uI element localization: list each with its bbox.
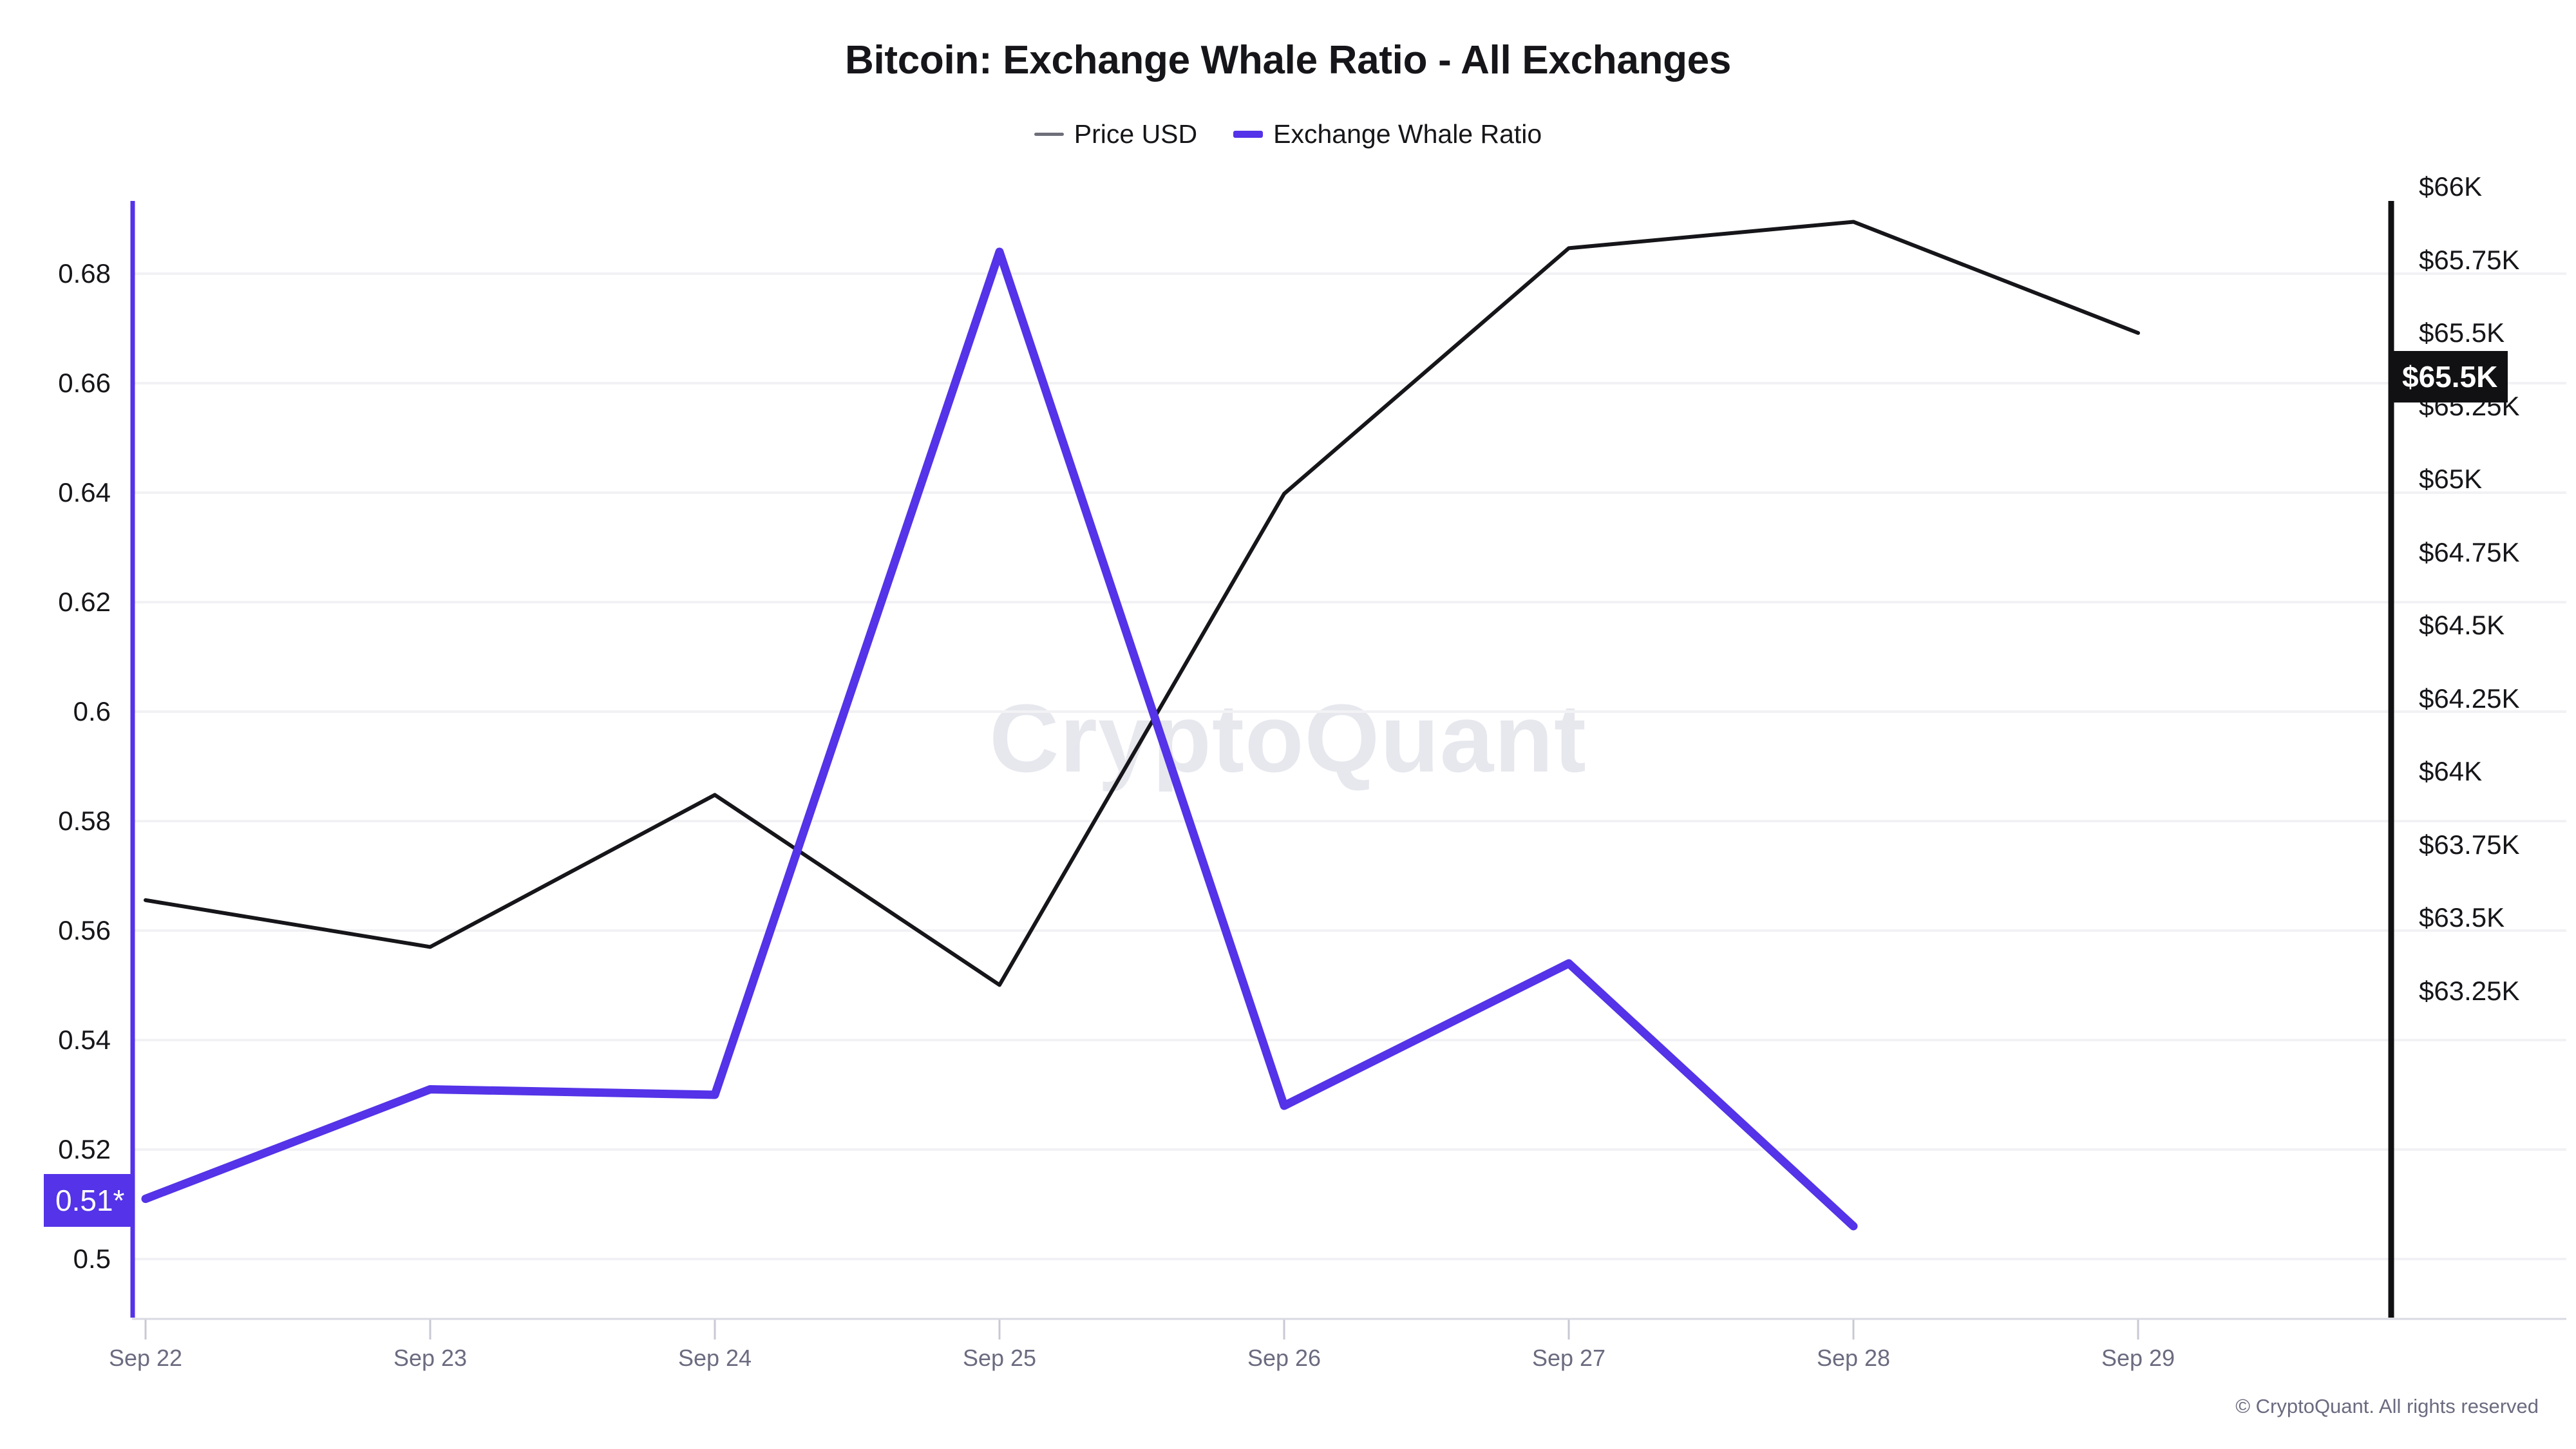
x-axis-ticks [146,1319,2138,1340]
y-axis-right-tick-label: $64.5K [2419,610,2505,641]
x-axis-tick-label: Sep 26 [1188,1345,1381,1372]
footer-credit: © CryptoQuant. All rights reserved [2235,1395,2539,1418]
series-line-exchange-whale-ratio [146,252,1853,1226]
y-axis-right-tick-label: $66K [2419,171,2482,202]
y-axis-right-tick-label: $63.75K [2419,829,2519,860]
x-axis-tick-label: Sep 29 [2041,1345,2235,1372]
x-axis-tick-label: Sep 28 [1757,1345,1950,1372]
y-axis-left-tick-label: 0.52 [0,1134,111,1165]
plot-svg [0,0,2576,1449]
x-axis-tick-label: Sep 24 [618,1345,811,1372]
gridlines [133,274,2566,1259]
left-axis-value-badge[interactable]: 0.51* [44,1174,133,1227]
x-axis-tick-label: Sep 27 [1472,1345,1665,1372]
y-axis-left-tick-label: 0.58 [0,806,111,837]
y-axis-left-tick-label: 0.62 [0,587,111,618]
y-axis-right-tick-label: $65K [2419,464,2482,495]
y-axis-right-tick-label: $64K [2419,756,2482,787]
y-axis-left-tick-label: 0.5 [0,1244,111,1274]
y-axis-left-tick-label: 0.68 [0,258,111,289]
y-axis-left-tick-label: 0.54 [0,1025,111,1056]
y-axis-left-tick-label: 0.64 [0,477,111,508]
y-axis-right-tick-label: $64.25K [2419,683,2519,714]
y-axis-left-tick-label: 0.56 [0,915,111,946]
plot-area: 0.680.660.640.620.60.580.560.540.520.5 $… [0,0,2576,1449]
y-axis-left-tick-label: 0.66 [0,368,111,399]
y-axis-left-tick-label: 0.6 [0,696,111,727]
x-axis-tick-label: Sep 22 [49,1345,242,1372]
x-axis-tick-label: Sep 23 [334,1345,527,1372]
right-axis-value-badge[interactable]: $65.5K [2391,351,2508,402]
y-axis-right-tick-label: $63.5K [2419,902,2505,933]
y-axis-right-tick-label: $64.75K [2419,537,2519,568]
y-axis-right-tick-label: $65.5K [2419,317,2505,348]
x-axis-tick-label: Sep 25 [903,1345,1096,1372]
y-axis-right-tick-label: $65.75K [2419,245,2519,276]
y-axis-right-tick-label: $63.25K [2419,976,2519,1007]
chart-root: Bitcoin: Exchange Whale Ratio - All Exch… [0,0,2576,1449]
